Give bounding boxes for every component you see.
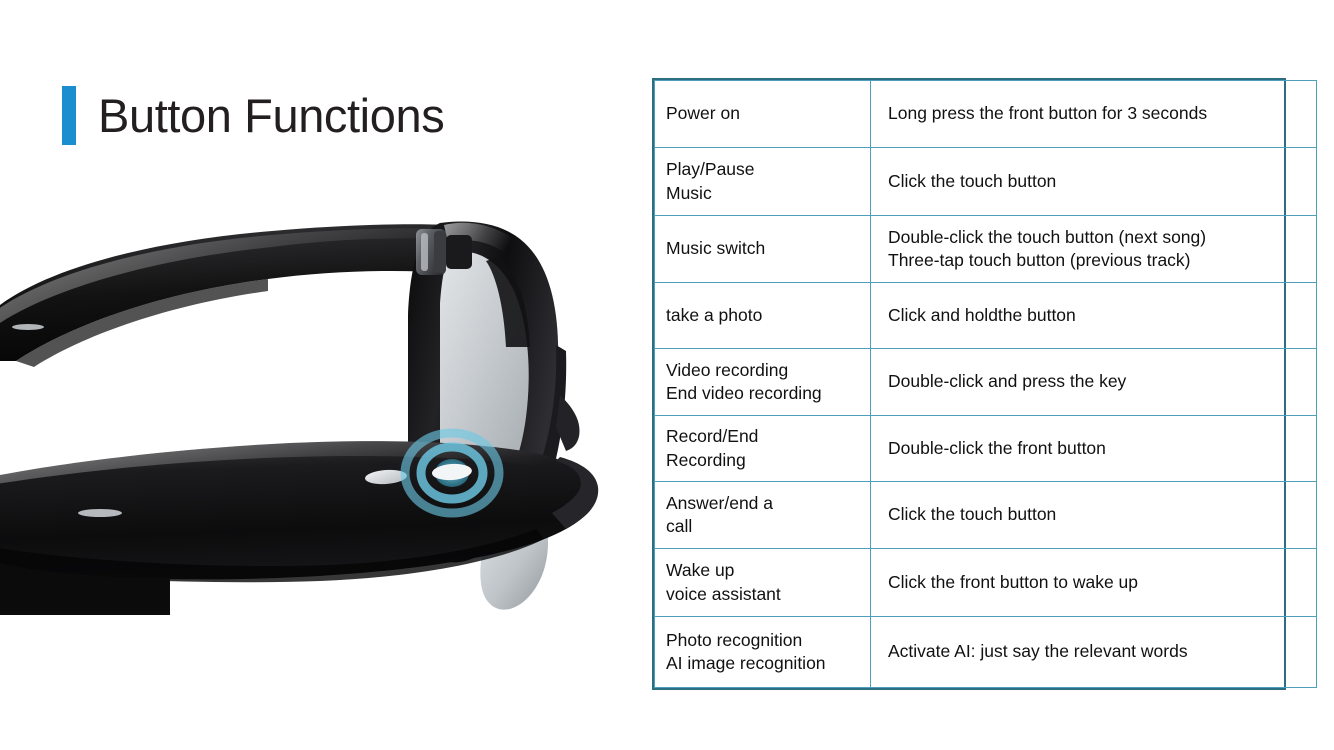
temple-arm-upper <box>0 224 452 367</box>
page-title: Button Functions <box>98 92 444 139</box>
cell-line: Music <box>666 182 870 206</box>
table-cell-action: Photo recognition AI image recognition <box>655 617 871 688</box>
table-cell-action: Music switch <box>655 216 871 283</box>
table-cell-description: Long press the front button for 3 second… <box>871 81 1317 148</box>
cell-line: End video recording <box>666 382 870 406</box>
table-cell-description: Click and holdthe button <box>871 283 1317 349</box>
table-row: take a photo Click and holdthe button <box>655 283 1317 349</box>
cell-line: Long press the front button for 3 second… <box>888 102 1316 126</box>
cell-line: Activate AI: just say the relevant words <box>888 640 1316 664</box>
cell-line: Double-click the front button <box>888 437 1316 461</box>
touch-sensor-indicator <box>405 433 499 513</box>
cell-line: Video recording <box>666 359 870 383</box>
table-row: Play/Pause Music Click the touch button <box>655 148 1317 216</box>
table-cell-action: Answer/end a call <box>655 482 871 549</box>
cell-line: Click and holdthe button <box>888 304 1316 328</box>
page-header: Button Functions <box>62 86 444 145</box>
cell-line: Power on <box>666 102 870 126</box>
table-cell-action: Power on <box>655 81 871 148</box>
table-cell-description: Double-click the touch button (next song… <box>871 216 1317 283</box>
table-row: Answer/end a call Click the touch button <box>655 482 1317 549</box>
table-cell-action: take a photo <box>655 283 871 349</box>
temple-marking <box>12 324 44 330</box>
table-cell-action: Wake up voice assistant <box>655 549 871 617</box>
table-row: Record/End Recording Double-click the fr… <box>655 416 1317 482</box>
temple-marking-near <box>78 509 122 517</box>
table-row: Wake up voice assistant Click the front … <box>655 549 1317 617</box>
cell-line: AI image recognition <box>666 652 870 676</box>
hinge <box>416 229 472 275</box>
cell-line: Answer/end a <box>666 492 870 516</box>
button-functions-table: Power on Long press the front button for… <box>652 78 1286 690</box>
table-cell-action: Play/Pause Music <box>655 148 871 216</box>
cell-line: voice assistant <box>666 583 870 607</box>
table-cell-description: Click the touch button <box>871 482 1317 549</box>
cell-line: Music switch <box>666 237 870 261</box>
cell-line: Double-click the touch button (next song… <box>888 226 1316 250</box>
cell-line: Recording <box>666 449 870 473</box>
table-cell-description: Double-click and press the key <box>871 349 1317 416</box>
table-cell-description: Activate AI: just say the relevant words <box>871 617 1317 688</box>
table-cell-description: Click the front button to wake up <box>871 549 1317 617</box>
cell-line: Click the front button to wake up <box>888 571 1316 595</box>
cell-line: take a photo <box>666 304 870 328</box>
table-cell-description: Double-click the front button <box>871 416 1317 482</box>
cell-line: Record/End <box>666 425 870 449</box>
product-photo-smart-glasses <box>0 195 625 615</box>
cell-line: Click the touch button <box>888 503 1316 527</box>
cell-line: Click the touch button <box>888 170 1316 194</box>
cell-line: Photo recognition <box>666 629 870 653</box>
table-cell-description: Click the touch button <box>871 148 1317 216</box>
table-cell-action: Record/End Recording <box>655 416 871 482</box>
cell-line: call <box>666 515 870 539</box>
cell-line: Wake up <box>666 559 870 583</box>
table-row: Power on Long press the front button for… <box>655 81 1317 148</box>
table-row: Music switch Double-click the touch butt… <box>655 216 1317 283</box>
cell-line: Play/Pause <box>666 158 870 182</box>
table-cell-action: Video recording End video recording <box>655 349 871 416</box>
title-accent-bar <box>62 86 76 145</box>
table-row: Video recording End video recording Doub… <box>655 349 1317 416</box>
cell-line: Three-tap touch button (previous track) <box>888 249 1316 273</box>
cell-line: Double-click and press the key <box>888 370 1316 394</box>
table-row: Photo recognition AI image recognition A… <box>655 617 1317 688</box>
